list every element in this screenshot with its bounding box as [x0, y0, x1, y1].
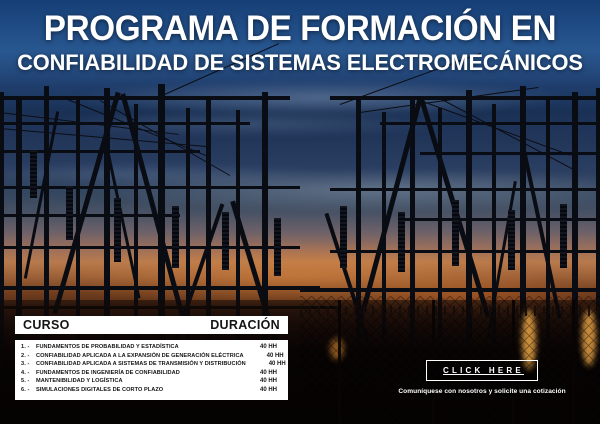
- row-number: 2. -: [21, 353, 36, 359]
- table-row: 2. - CONFIABILIDAD APLICADA A LA EXPANSI…: [21, 353, 281, 362]
- click-here-button[interactable]: CLICK HERE: [426, 360, 538, 381]
- row-course-name: CONFIABILIDAD APLICADA A SISTEMAS DE TRA…: [36, 361, 246, 367]
- row-duration: 40 HH: [237, 378, 281, 384]
- fence-post-a: [338, 300, 341, 424]
- row-number: 1. -: [21, 344, 36, 350]
- row-duration: 40 HH: [246, 361, 290, 367]
- table-header-row: CURSO DURACIÓN: [15, 316, 288, 334]
- table-body: 1. - FUNDAMENTOS DE PROBABILIDAD Y ESTAD…: [15, 340, 288, 400]
- cta-subtitle: Comuníquese con nosotros y solicite una …: [372, 388, 592, 395]
- row-number: 5. -: [21, 378, 36, 384]
- page-title: PROGRAMA DE FORMACIÓN EN CONFIABILIDAD D…: [0, 10, 600, 76]
- row-course-name: SIMULACIONES DIGITALES DE CORTO PLAZO: [36, 387, 237, 393]
- table-row: 1. - FUNDAMENTOS DE PROBABILIDAD Y ESTAD…: [21, 344, 281, 353]
- row-duration: 40 HH: [244, 353, 288, 359]
- column-header-duration: DURACIÓN: [210, 318, 280, 332]
- barbed-wire: [300, 306, 600, 316]
- row-duration: 40 HH: [237, 387, 281, 393]
- row-course-name: FUNDAMENTOS DE PROBABILIDAD Y ESTADÍSTIC…: [36, 344, 237, 350]
- row-number: 4. -: [21, 370, 36, 376]
- column-header-course: CURSO: [23, 318, 70, 332]
- poster-canvas: PROGRAMA DE FORMACIÓN EN CONFIABILIDAD D…: [0, 0, 600, 424]
- headline-line-2: CONFIABILIDAD DE SISTEMAS ELECTROMECÁNIC…: [9, 50, 591, 76]
- row-number: 6. -: [21, 387, 36, 393]
- table-row: 5. - MANTENIBILIDAD Y LOGÍSTICA 40 HH: [21, 378, 281, 387]
- headline-line-1: PROGRAMA DE FORMACIÓN EN: [15, 10, 585, 48]
- row-course-name: MANTENIBILIDAD Y LOGÍSTICA: [36, 378, 237, 384]
- row-course-name: FUNDAMENTOS DE INGENIERÍA DE CONFIABILID…: [36, 370, 237, 376]
- table-row: 3. - CONFIABILIDAD APLICADA A SISTEMAS D…: [21, 361, 281, 370]
- course-table: CURSO DURACIÓN 1. - FUNDAMENTOS DE PROBA…: [15, 316, 288, 400]
- row-duration: 40 HH: [237, 370, 281, 376]
- row-course-name: CONFIABILIDAD APLICADA A LA EXPANSIÓN DE…: [36, 353, 244, 359]
- call-to-action: CLICK HERE Comuníquese con nosotros y so…: [372, 360, 592, 395]
- row-duration: 40 HH: [237, 344, 281, 350]
- row-number: 3. -: [21, 361, 36, 367]
- table-row: 6. - SIMULACIONES DIGITALES DE CORTO PLA…: [21, 387, 281, 396]
